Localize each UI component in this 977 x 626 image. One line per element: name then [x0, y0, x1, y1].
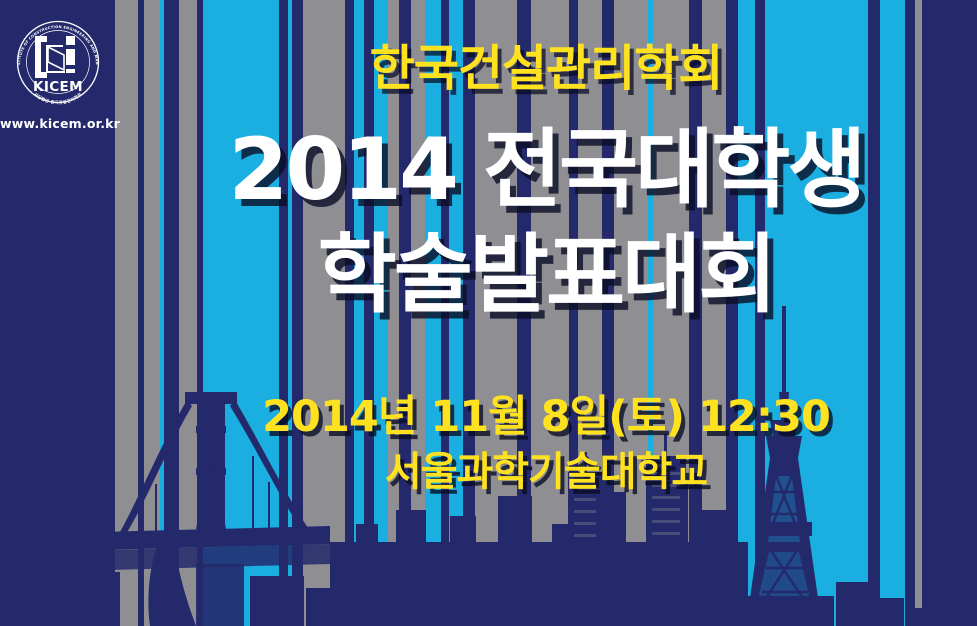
stripe-background	[0, 0, 977, 626]
background-stripe	[569, 0, 578, 626]
background-stripe	[905, 0, 915, 626]
background-stripe	[425, 0, 441, 626]
background-stripe	[411, 0, 425, 626]
background-stripe	[374, 0, 388, 626]
background-stripe	[531, 0, 569, 626]
background-stripe	[755, 0, 765, 626]
background-stripe	[354, 0, 364, 626]
background-stripe	[279, 0, 288, 626]
background-stripe	[868, 0, 880, 626]
background-stripe	[164, 0, 179, 626]
background-stripe	[726, 0, 738, 626]
background-stripe	[517, 0, 531, 626]
background-stripe	[765, 0, 868, 626]
logo-monogram	[35, 36, 75, 78]
background-stripe	[144, 0, 160, 626]
logo-panel: KOREA INSTITUTE OF CONSTRUCTION ENGINEER…	[0, 0, 115, 626]
background-stripe	[653, 0, 689, 626]
background-stripe	[880, 0, 905, 626]
kicem-logo[interactable]: KOREA INSTITUTE OF CONSTRUCTION ENGINEER…	[8, 12, 108, 112]
logo-wordmark: KICEM	[33, 79, 83, 95]
background-stripe	[578, 0, 602, 626]
background-stripe	[399, 0, 411, 626]
background-stripe	[915, 0, 922, 626]
background-stripe	[689, 0, 702, 626]
logo-circular-text-top: KOREA INSTITUTE OF CONSTRUCTION ENGINEER…	[8, 12, 99, 65]
background-stripe	[115, 0, 138, 626]
background-stripe	[441, 0, 449, 626]
background-stripe	[614, 0, 648, 626]
website-url[interactable]: www.kicem.or.kr	[0, 116, 115, 131]
background-stripe	[702, 0, 726, 626]
background-stripe	[738, 0, 755, 626]
background-stripe	[203, 0, 279, 626]
background-stripe	[345, 0, 354, 626]
background-stripe	[303, 0, 345, 626]
poster-canvas: KOREA INSTITUTE OF CONSTRUCTION ENGINEER…	[0, 0, 977, 626]
background-stripe	[388, 0, 399, 626]
background-stripe	[602, 0, 614, 626]
background-stripe	[364, 0, 374, 626]
background-stripe	[449, 0, 463, 626]
background-stripe	[292, 0, 303, 626]
background-stripe	[922, 0, 977, 626]
background-stripe	[463, 0, 475, 626]
background-stripe	[475, 0, 517, 626]
background-stripe	[179, 0, 197, 626]
